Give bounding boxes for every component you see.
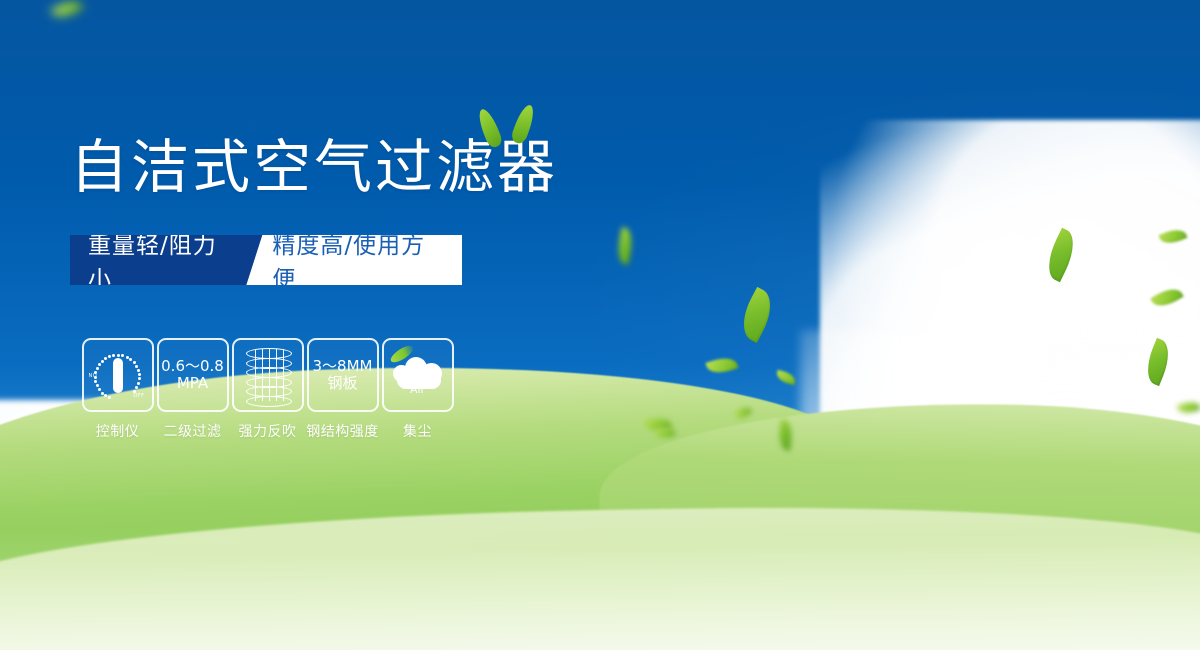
coil-graphic: [245, 346, 291, 404]
gauge-tick-dot: [96, 367, 99, 370]
gauge-tick-dot: [98, 388, 101, 391]
feature-label-blowback: 强力反吹: [239, 421, 297, 441]
gauge-tick-dot: [137, 369, 140, 372]
leaf-decoration: [705, 354, 738, 378]
steel-material: 钢板: [313, 375, 373, 392]
gauge-tick-dot: [135, 365, 138, 368]
gauge-off-label: OFF: [133, 393, 144, 399]
feature-item-pressure[interactable]: 0.6～0.8 MPA 二级过滤: [155, 338, 230, 441]
leaf-icon-left: [475, 107, 504, 150]
grass-haze-overlay: [0, 530, 1200, 650]
gauge-tick-dot: [135, 386, 138, 389]
feature-label-dust: 集尘: [403, 421, 432, 441]
gauge-tick-dot: [133, 361, 136, 364]
air-cloud-icon: Air: [382, 338, 454, 412]
coil-bar: [269, 349, 271, 401]
gauge-tick-dot: [121, 354, 124, 357]
gauge-needle: [113, 358, 123, 393]
feature-label-pressure: 二级过滤: [164, 421, 222, 441]
gauge-tick-dot: [94, 380, 97, 383]
control-dial-icon: NO OFF: [82, 338, 154, 412]
coil-bar: [255, 349, 257, 401]
steel-thickness: 3～8MM: [313, 357, 373, 375]
leaf-decoration: [775, 370, 797, 386]
gauge-tick-dot: [98, 363, 101, 366]
air-label: Air: [391, 383, 445, 396]
coil-bar: [276, 349, 278, 401]
pressure-value: 0.6～0.8: [161, 357, 224, 375]
cloud-graphic: Air: [391, 355, 445, 395]
pressure-unit: MPA: [161, 375, 224, 392]
leaf-icon-right: [510, 103, 538, 146]
feature-label-steel: 钢结构强度: [306, 421, 379, 441]
subtitle-right-segment: 精度高/使用方便: [246, 235, 462, 285]
gauge-graphic: NO OFF: [89, 347, 147, 403]
gauge-tick-dot: [126, 356, 129, 359]
hero-banner: 自洁式空气过滤器 重量轻/阻力小 精度高/使用方便 NO OFF 控制仪 0.6…: [0, 0, 1200, 650]
leaf-decoration: [50, 0, 83, 22]
feature-item-blowback[interactable]: 强力反吹: [230, 338, 305, 441]
gauge-tick-dot: [101, 360, 104, 363]
subtitle-left-segment: 重量轻/阻力小: [70, 235, 262, 285]
gauge-tick-dot: [104, 394, 107, 397]
gauge-tick-dot: [137, 382, 140, 385]
steel-text-icon: 3～8MM 钢板: [307, 338, 379, 412]
gauge-tick-dot: [94, 376, 97, 379]
feature-list: NO OFF 控制仪 0.6～0.8 MPA 二级过滤 强力反吹: [80, 338, 455, 441]
title-block: 自洁式空气过滤器: [70, 138, 558, 196]
title-leaf-pair: [480, 102, 560, 152]
gauge-tick-dot: [112, 354, 115, 357]
feature-item-dust[interactable]: Air 集尘: [380, 338, 455, 441]
gauge-tick-dot: [133, 390, 136, 393]
gauge-tick-dot: [138, 377, 141, 380]
feature-item-steel[interactable]: 3～8MM 钢板 钢结构强度: [305, 338, 380, 441]
pressure-text-icon: 0.6～0.8 MPA: [157, 338, 229, 412]
coil-bar: [262, 349, 264, 401]
subtitle-bar: 重量轻/阻力小 精度高/使用方便: [70, 235, 462, 285]
gauge-tick-dot: [96, 384, 99, 387]
filter-coil-icon: [232, 338, 304, 412]
gauge-tick-dot: [117, 354, 120, 357]
gauge-tick-dot: [104, 357, 107, 360]
leaf-decoration: [734, 287, 780, 343]
coil-bar: [283, 349, 285, 401]
leaf-decoration: [614, 227, 635, 265]
gauge-tick-dot: [101, 392, 104, 395]
gauge-tick-dot: [108, 355, 111, 358]
gauge-tick-dot: [138, 373, 141, 376]
gauge-tick-dot: [129, 358, 132, 361]
gauge-tick-dot: [108, 396, 111, 399]
feature-item-control[interactable]: NO OFF 控制仪: [80, 338, 155, 441]
feature-label-control: 控制仪: [96, 421, 140, 441]
